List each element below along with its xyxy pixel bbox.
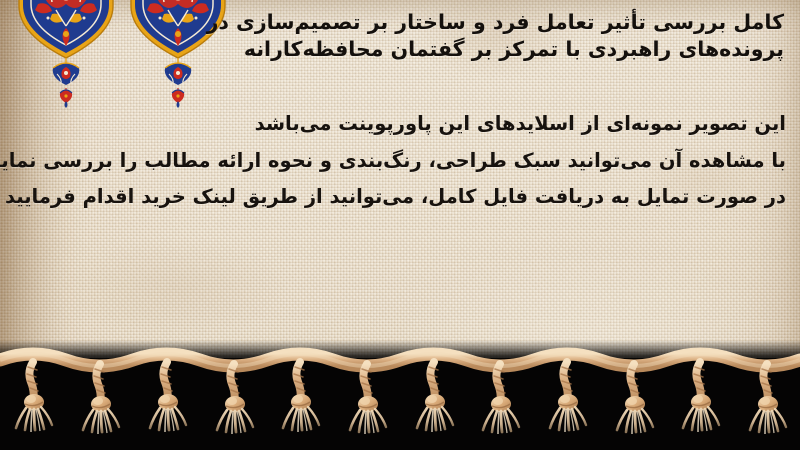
body-line-3: در صورت تمایل به دریافت فایل کامل، می‌تو… bbox=[14, 185, 786, 208]
title-line-1: کامل بررسی تأثیر تعامل فرد و ساختار بر ت… bbox=[224, 9, 784, 36]
slide-title: کامل بررسی تأثیر تعامل فرد و ساختار بر ت… bbox=[224, 9, 784, 62]
body-line-2: با مشاهده آن می‌توانید سبک طراحی، رنگ‌بن… bbox=[14, 149, 786, 172]
body-line-1: این تصویر نمونه‌ای از اسلایدهای این پاور… bbox=[14, 112, 786, 135]
black-fringe-band bbox=[0, 340, 800, 450]
title-line-2: پرونده‌های راهبردی با تمرکز بر گفتمان مح… bbox=[224, 36, 784, 63]
slide-canvas: کامل بررسی تأثیر تعامل فرد و ساختار بر ت… bbox=[0, 0, 800, 450]
slide-body: این تصویر نمونه‌ای از اسلایدهای این پاور… bbox=[14, 112, 786, 208]
